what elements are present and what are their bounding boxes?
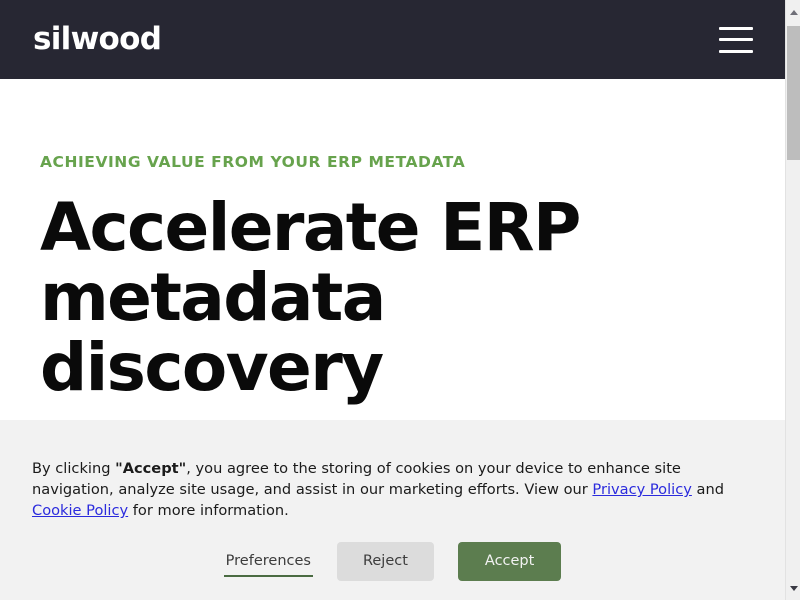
privacy-policy-link[interactable]: Privacy Policy: [592, 481, 691, 498]
hamburger-menu-icon[interactable]: [719, 27, 753, 53]
hero-eyebrow: ACHIEVING VALUE FROM YOUR ERP METADATA: [40, 79, 745, 171]
cookie-text-accept-word: "Accept": [115, 460, 186, 477]
site-logo[interactable]: silwood: [33, 24, 161, 55]
preferences-button[interactable]: Preferences: [224, 546, 313, 578]
hero-section: ACHIEVING VALUE FROM YOUR ERP METADATA A…: [0, 79, 785, 403]
cookie-consent-banner: By clicking "Accept", you agree to the s…: [0, 420, 785, 600]
hamburger-bar-3: [719, 50, 753, 53]
hamburger-bar-1: [719, 27, 753, 30]
cookie-text-part1: By clicking: [32, 460, 115, 477]
page-title: Accelerate ERP metadata discovery: [40, 171, 600, 403]
hamburger-bar-2: [719, 38, 753, 41]
page-content: silwood ACHIEVING VALUE FROM YOUR ERP ME…: [0, 0, 785, 600]
cookie-policy-link[interactable]: Cookie Policy: [32, 502, 128, 519]
site-header: silwood: [0, 0, 785, 79]
scroll-down-arrow-icon[interactable]: [786, 579, 800, 597]
accept-button[interactable]: Accept: [458, 542, 561, 581]
cookie-text-part3: for more information.: [128, 502, 289, 519]
scroll-up-arrow-icon[interactable]: [786, 3, 800, 21]
reject-button[interactable]: Reject: [337, 542, 434, 581]
cookie-banner-actions: Preferences Reject Accept: [32, 542, 753, 581]
cookie-text-and: and: [692, 481, 724, 498]
cookie-consent-text: By clicking "Accept", you agree to the s…: [32, 458, 742, 521]
browser-viewport: silwood ACHIEVING VALUE FROM YOUR ERP ME…: [0, 0, 800, 600]
vertical-scrollbar[interactable]: [785, 0, 800, 600]
scrollbar-thumb[interactable]: [787, 26, 800, 160]
